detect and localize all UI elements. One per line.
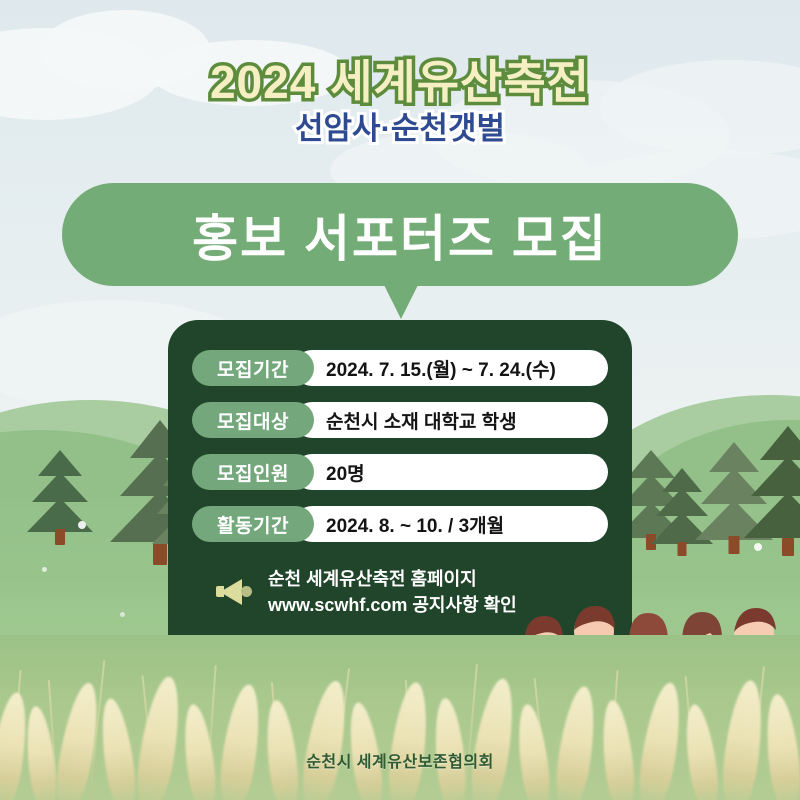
reed-field <box>0 635 800 800</box>
pine-tree-icon <box>740 426 800 556</box>
info-row: 모집기간 2024. 7. 15.(월) ~ 7. 24.(수) <box>192 350 608 386</box>
banner-tail-icon <box>384 285 418 319</box>
festival-title: 2024 세계유산축전 <box>0 58 800 108</box>
info-label: 모집기간 <box>192 350 314 386</box>
info-label: 모집인원 <box>192 454 314 490</box>
info-row: 모집대상 순천시 소재 대학교 학생 <box>192 402 608 438</box>
organization-name: 순천시 세계유산보존협의회 <box>0 748 800 772</box>
info-value: 2024. 7. 15.(월) ~ 7. 24.(수) <box>294 350 608 386</box>
title-block: 2024 세계유산축전 선암사·순천갯벌 <box>0 58 800 146</box>
info-value: 20명 <box>294 454 608 490</box>
headline-text: 홍보 서포터즈 모집 <box>192 199 608 271</box>
info-row: 활동기간 2024. 8. ~ 10. / 3개월 <box>192 506 608 542</box>
seed-dot <box>42 567 47 572</box>
seed-dot <box>120 612 125 617</box>
note-line-2: www.scwhf.com 공지사항 확인 <box>268 592 517 618</box>
headline-banner: 홍보 서포터즈 모집 <box>62 183 738 286</box>
info-row: 모집인원 20명 <box>192 454 608 490</box>
seed-dot <box>78 521 86 529</box>
info-value: 순천시 소재 대학교 학생 <box>294 402 608 438</box>
note-line-1: 순천 세계유산축전 홈페이지 <box>268 566 517 592</box>
poster-canvas: 2024 세계유산축전 선암사·순천갯벌 홍보 서포터즈 모집 모집기간 202… <box>0 0 800 800</box>
info-label: 활동기간 <box>192 506 314 542</box>
info-value: 2024. 8. ~ 10. / 3개월 <box>294 506 608 542</box>
info-label: 모집대상 <box>192 402 314 438</box>
festival-subtitle: 선암사·순천갯벌 <box>0 112 800 146</box>
megaphone-icon <box>216 577 252 607</box>
seed-dot <box>754 543 762 551</box>
pine-tree-icon <box>25 450 95 545</box>
